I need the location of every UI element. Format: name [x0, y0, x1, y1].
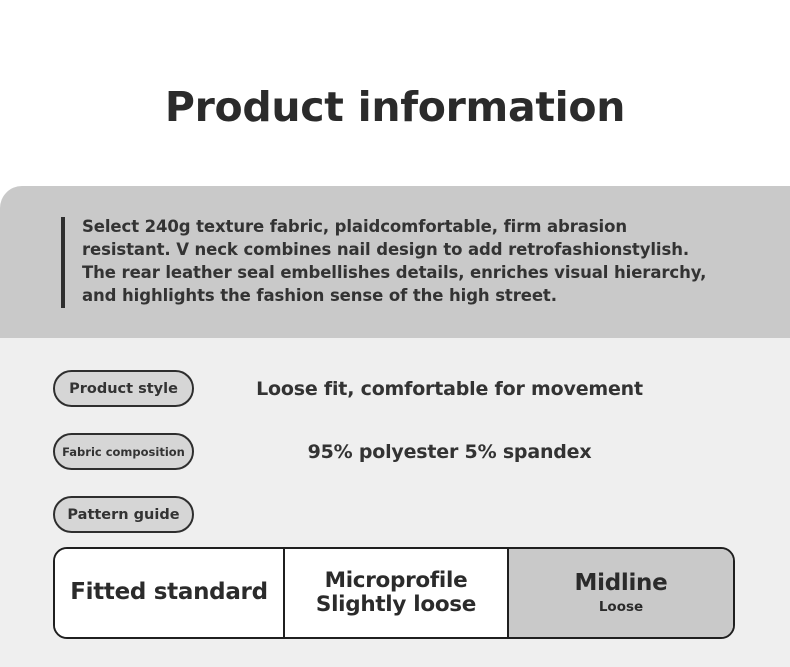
attribute-rows: Product style Loose fit, comfortable for…: [0, 338, 790, 546]
attributes-section: Product style Loose fit, comfortable for…: [0, 338, 790, 667]
attribute-value-fabric-composition: 95% polyester 5% spandex: [194, 441, 790, 463]
fit-option-label: Microprofile: [325, 569, 468, 593]
attribute-row-pattern-guide: Pattern guide: [0, 483, 790, 546]
pill-product-style[interactable]: Product style: [53, 370, 194, 407]
fit-option-label: Fitted standard: [70, 580, 268, 606]
attribute-value-product-style: Loose fit, comfortable for movement: [194, 378, 790, 400]
fit-option-label-second-line: Slightly loose: [316, 593, 476, 617]
fit-selector[interactable]: Fitted standard Microprofile Slightly lo…: [53, 547, 735, 639]
description-line: and highlights the fashion sense of the …: [82, 285, 706, 308]
attribute-row-fabric-composition: Fabric composition 95% polyester 5% span…: [0, 420, 790, 483]
description-line: resistant. V neck combines nail design t…: [82, 239, 706, 262]
title-section: Product information: [0, 0, 790, 186]
page-title: Product information: [165, 87, 625, 128]
attribute-row-product-style: Product style Loose fit, comfortable for…: [0, 357, 790, 420]
fit-option-fitted-standard[interactable]: Fitted standard: [55, 549, 283, 637]
description-accent-bar: [61, 217, 65, 308]
description-line: The rear leather seal embellishes detail…: [82, 262, 706, 285]
pill-fabric-composition[interactable]: Fabric composition: [53, 433, 194, 470]
fit-option-midline[interactable]: Midline Loose: [507, 549, 733, 637]
description-text: Select 240g texture fabric, plaidcomfort…: [82, 216, 706, 307]
fit-option-sublabel: Loose: [599, 599, 643, 615]
fit-option-label: Midline: [575, 571, 668, 597]
description-panel: Select 240g texture fabric, plaidcomfort…: [0, 186, 790, 338]
pill-pattern-guide[interactable]: Pattern guide: [53, 496, 194, 533]
description-line: Select 240g texture fabric, plaidcomfort…: [82, 216, 706, 239]
fit-option-microprofile[interactable]: Microprofile Slightly loose: [283, 549, 507, 637]
